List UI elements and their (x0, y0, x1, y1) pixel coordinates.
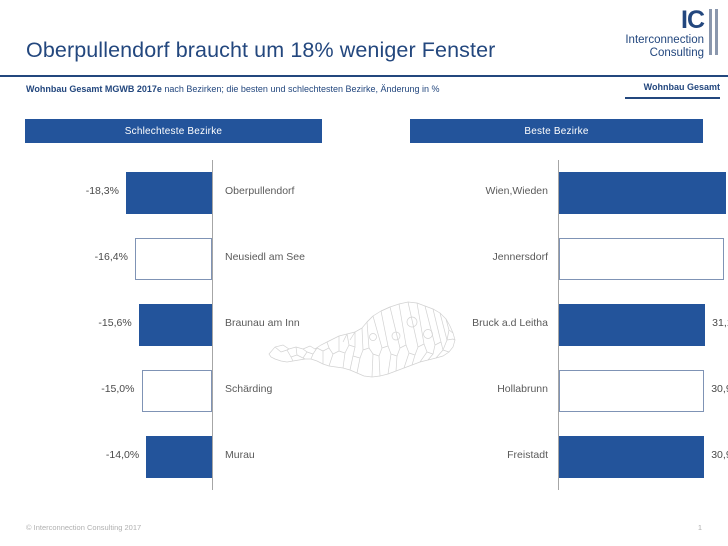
report-tag: Wohnbau Gesamt (644, 82, 720, 92)
logo-bar-secondary-icon (715, 9, 718, 55)
chart-bar (139, 304, 212, 346)
logo-bar-icon (709, 9, 712, 55)
report-tag-underline (625, 97, 720, 99)
chart-bar-value-label: -18,3% (86, 185, 119, 197)
chart-row: -18,3%Oberpullendorf (25, 160, 355, 226)
chart-bar-value-label: 30,9% (711, 383, 728, 395)
chart-category-label: Oberpullendorf (225, 185, 294, 197)
austria-map-icon (263, 292, 468, 397)
chart-bar-value-label: -16,4% (95, 251, 128, 263)
chart-category-label: Murau (225, 449, 255, 461)
chart-bar (559, 304, 705, 346)
logo-mark-ic: IC (681, 8, 704, 33)
chart-bar (126, 172, 212, 214)
footer-page-number: 1 (698, 523, 702, 532)
chart-row: -14,0%Murau (25, 424, 355, 490)
chart-bar (146, 436, 212, 478)
chart-bar-value-label: -15,6% (98, 317, 131, 329)
logo-wordmark-line1: Interconnection (625, 34, 704, 47)
logo-wordmark-line2: Consulting (625, 47, 704, 60)
chart-category-label: Freistadt (507, 449, 548, 461)
chart-bar (559, 172, 726, 214)
page-title: Oberpullendorf braucht um 18% weniger Fe… (26, 38, 495, 63)
chart-category-label: Jennersdorf (493, 251, 548, 263)
chart-bar (559, 436, 704, 478)
chart-row: 35,2%Jennersdorf (400, 226, 710, 292)
chart-row: 35,6%Wien,Wieden (400, 160, 710, 226)
chart-bar (559, 370, 704, 412)
logo-wordmark: Interconnection Consulting (625, 34, 704, 60)
chart-category-label: Bruck a.d Leitha (472, 317, 548, 329)
chart-bar-value-label: 30,9% (711, 449, 728, 461)
chart-bar (559, 238, 724, 280)
chart-bar-value-label: 31,1% (712, 317, 728, 329)
chart-category-label: Neusiedl am See (225, 251, 305, 263)
subtitle-bold: Wohnbau Gesamt MGWB 2017e (26, 84, 162, 94)
page-subtitle: Wohnbau Gesamt MGWB 2017e nach Bezirken;… (26, 84, 440, 94)
company-logo: IC Interconnection Consulting (628, 6, 720, 68)
title-divider (0, 75, 728, 77)
chart-category-label: Hollabrunn (497, 383, 548, 395)
chart-bar (142, 370, 213, 412)
panel-header-worst: Schlechteste Bezirke (25, 119, 322, 143)
chart-bar (135, 238, 212, 280)
panel-header-best: Beste Bezirke (410, 119, 703, 143)
chart-bar-value-label: -14,0% (106, 449, 139, 461)
chart-row: -16,4%Neusiedl am See (25, 226, 355, 292)
footer-copyright: © Interconnection Consulting 2017 (26, 523, 141, 532)
subtitle-rest: nach Bezirken; die besten und schlechtes… (162, 84, 440, 94)
chart-category-label: Wien,Wieden (486, 185, 548, 197)
chart-row: 30,9%Freistadt (400, 424, 710, 490)
chart-bar-value-label: -15,0% (101, 383, 134, 395)
